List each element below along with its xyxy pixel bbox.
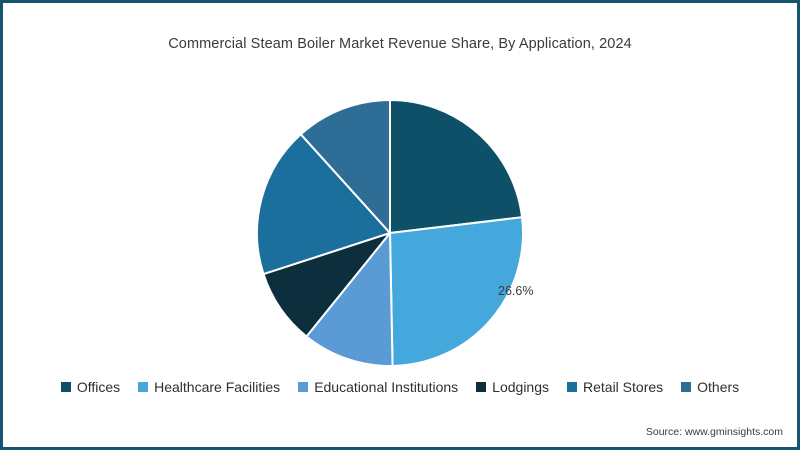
legend-item-label: Offices (77, 380, 120, 394)
legend-item[interactable]: Educational Institutions (298, 380, 458, 394)
legend-item[interactable]: Healthcare Facilities (138, 380, 280, 394)
chart-legend: OfficesHealthcare FacilitiesEducational … (3, 380, 797, 394)
legend-item-label: Retail Stores (583, 380, 663, 394)
legend-item-label: Healthcare Facilities (154, 380, 280, 394)
pie-chart (255, 98, 525, 368)
legend-item[interactable]: Lodgings (476, 380, 549, 394)
chart-figure: Commercial Steam Boiler Market Revenue S… (0, 0, 800, 450)
pie-slice (390, 100, 522, 233)
legend-item[interactable]: Retail Stores (567, 380, 663, 394)
pie-slice-group (257, 100, 523, 366)
chart-canvas: Commercial Steam Boiler Market Revenue S… (3, 3, 797, 447)
legend-swatch-icon (476, 382, 486, 392)
source-note: Source: www.gminsights.com (646, 426, 783, 438)
page-title: Commercial Steam Boiler Market Revenue S… (3, 36, 797, 52)
legend-swatch-icon (681, 382, 691, 392)
legend-swatch-icon (61, 382, 71, 392)
legend-item[interactable]: Offices (61, 380, 120, 394)
pie-data-label-healthcare-facilities: 26.6% (498, 284, 533, 298)
legend-item-label: Others (697, 380, 739, 394)
legend-item[interactable]: Others (681, 380, 739, 394)
legend-swatch-icon (567, 382, 577, 392)
legend-swatch-icon (138, 382, 148, 392)
legend-item-label: Educational Institutions (314, 380, 458, 394)
legend-item-label: Lodgings (492, 380, 549, 394)
legend-swatch-icon (298, 382, 308, 392)
pie-chart-svg (255, 98, 525, 368)
